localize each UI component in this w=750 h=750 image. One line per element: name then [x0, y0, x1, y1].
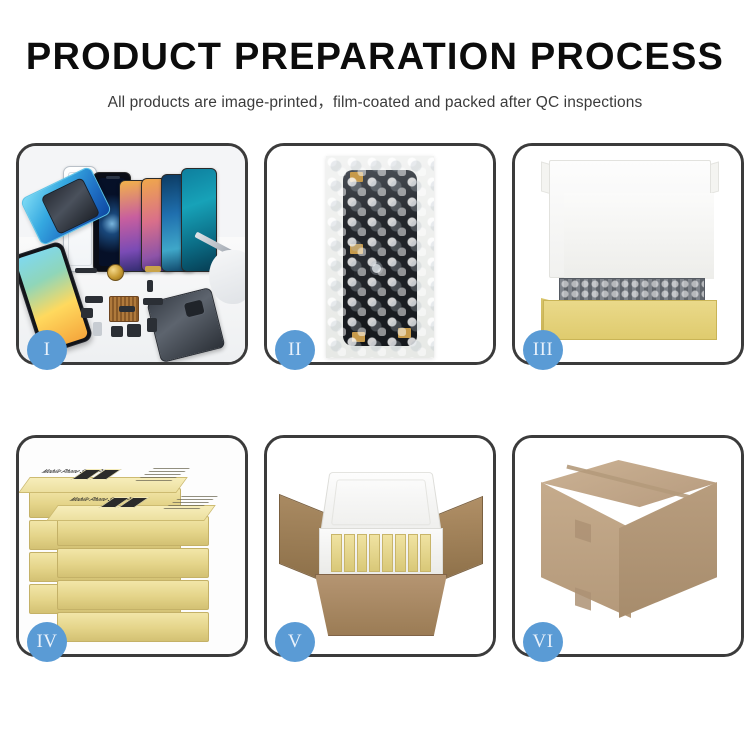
step-5-image — [267, 438, 493, 654]
box-spec-lines — [135, 468, 190, 481]
step-3-image — [515, 146, 741, 362]
bubble-texture — [326, 156, 434, 358]
carton-tape-lower — [575, 587, 591, 610]
step-1-image — [19, 146, 245, 362]
process-step-4[interactable]: Mobile Phone Spare Parts Mobile Phone Sp… — [16, 435, 248, 657]
step-badge-2: II — [275, 330, 315, 370]
open-shipping-carton — [279, 454, 483, 644]
process-step-3[interactable]: III — [512, 143, 744, 365]
small-part — [127, 324, 141, 337]
page-subtitle: All products are image-printed，film-coat… — [0, 90, 750, 112]
step-badge-1: I — [27, 330, 67, 370]
process-step-6[interactable]: VI — [512, 435, 744, 657]
small-part — [145, 266, 161, 272]
process-step-2[interactable]: II — [264, 143, 496, 365]
process-steps-grid: I II — [16, 143, 744, 657]
step-2-image — [267, 146, 493, 362]
header: PRODUCT PREPARATION PROCESS All products… — [0, 0, 750, 112]
small-part — [81, 308, 93, 318]
retail-box — [57, 612, 209, 642]
box-lid-foam — [549, 160, 711, 278]
step-badge-5: V — [275, 622, 315, 662]
step-badge-4: IV — [27, 622, 67, 662]
foam-box-lid — [320, 472, 442, 535]
open-yellow-box — [541, 160, 719, 346]
small-part — [85, 296, 103, 303]
sealed-shipping-carton — [533, 460, 725, 638]
box-stack: Mobile Phone Spare Parts Mobile Phone Sp… — [29, 454, 237, 644]
retail-box — [57, 580, 209, 610]
box-base-front — [543, 300, 717, 340]
camera-module — [183, 298, 206, 318]
small-part — [147, 280, 153, 292]
small-part — [143, 298, 163, 305]
product-preparation-process-infographic: PRODUCT PREPARATION PROCESS All products… — [0, 0, 750, 750]
step-badge-6: VI — [523, 622, 563, 662]
phone-screen-5 — [181, 168, 217, 272]
step-4-image: Mobile Phone Spare Parts Mobile Phone Sp… — [19, 438, 245, 654]
page-title: PRODUCT PREPARATION PROCESS — [0, 38, 750, 78]
retail-box — [57, 548, 209, 578]
small-part — [93, 322, 102, 336]
foam-sheet — [564, 193, 714, 279]
step-6-image — [515, 438, 741, 654]
retail-box: Mobile Phone Spare Parts — [57, 516, 209, 546]
process-step-1[interactable]: I — [16, 143, 248, 365]
carton-front-panel — [315, 574, 447, 636]
small-part — [111, 326, 123, 337]
packed-retail-boxes — [331, 534, 431, 572]
process-step-5[interactable]: V — [264, 435, 496, 657]
small-part — [147, 318, 157, 332]
small-part — [75, 268, 97, 273]
bubble-wrap-bag — [326, 156, 434, 358]
step-badge-3: III — [523, 330, 563, 370]
speaker-component — [107, 264, 124, 281]
small-part — [119, 306, 135, 312]
